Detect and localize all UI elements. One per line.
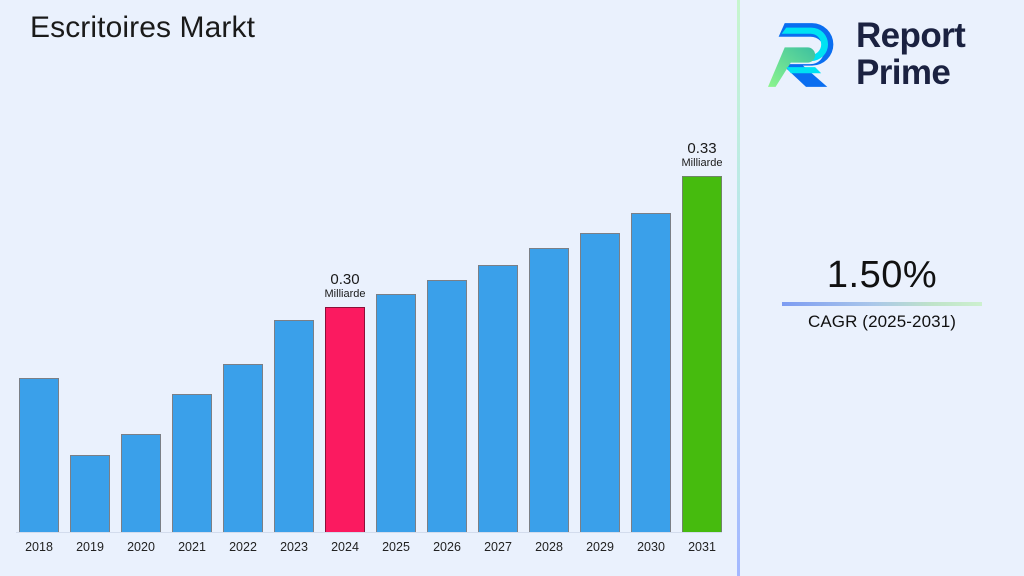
bar-value-2031: 0.33 (682, 141, 723, 157)
bar-rect-2030[interactable] (631, 213, 671, 532)
x-tick-2024: 2024 (325, 540, 365, 554)
brand-wordmark: Report Prime (856, 18, 965, 92)
cagr-caption: CAGR (2025-2031) (740, 312, 1024, 332)
bar-2026[interactable] (427, 280, 467, 532)
bar-2020[interactable] (121, 434, 161, 532)
bar-value-label-2031: 0.33Milliarde (682, 141, 723, 170)
bar-rect-2019[interactable] (70, 455, 110, 532)
bar-rect-2031[interactable] (682, 176, 722, 532)
chart-page: Escritoires Markt 0.30Milliarde0.33Milli… (0, 0, 1024, 576)
brand-logo: Report Prime (768, 12, 1000, 98)
bar-unit-2024: Milliarde (325, 289, 366, 301)
x-tick-2027: 2027 (478, 540, 518, 554)
side-panel: Report Prime 1.50% CAGR (2025-2031) (740, 0, 1024, 576)
bar-rect-2022[interactable] (223, 364, 263, 532)
x-tick-2022: 2022 (223, 540, 263, 554)
bar-unit-2031: Milliarde (682, 158, 723, 170)
x-tick-2029: 2029 (580, 540, 620, 554)
x-tick-2030: 2030 (631, 540, 671, 554)
bar-2023[interactable] (274, 320, 314, 532)
bar-rect-2021[interactable] (172, 394, 212, 532)
brand-name-line2: Prime (856, 55, 965, 92)
bar-rect-2027[interactable] (478, 265, 518, 532)
bar-value-label-2024: 0.30Milliarde (325, 272, 366, 301)
cagr-block: 1.50% CAGR (2025-2031) (740, 255, 1024, 332)
brand-name-line1: Report (856, 18, 965, 55)
bar-rect-2025[interactable] (376, 294, 416, 532)
bar-rect-2020[interactable] (121, 434, 161, 532)
x-tick-2031: 2031 (682, 540, 722, 554)
x-tick-2025: 2025 (376, 540, 416, 554)
bar-rect-2029[interactable] (580, 233, 620, 532)
bar-2022[interactable] (223, 364, 263, 532)
bar-2018[interactable] (19, 378, 59, 532)
bar-rect-2028[interactable] (529, 248, 569, 532)
bar-2031[interactable]: 0.33Milliarde (682, 176, 722, 532)
x-tick-2018: 2018 (19, 540, 59, 554)
bar-rect-2024[interactable] (325, 307, 365, 532)
x-tick-2021: 2021 (172, 540, 212, 554)
x-tick-2028: 2028 (529, 540, 569, 554)
bar-2030[interactable] (631, 213, 671, 532)
bar-2027[interactable] (478, 265, 518, 532)
x-tick-2026: 2026 (427, 540, 467, 554)
bar-rect-2026[interactable] (427, 280, 467, 532)
bar-2029[interactable] (580, 233, 620, 532)
bar-2019[interactable] (70, 455, 110, 532)
bar-2028[interactable] (529, 248, 569, 532)
bar-2021[interactable] (172, 394, 212, 532)
report-prime-logo-icon (768, 17, 844, 93)
bar-value-2024: 0.30 (325, 272, 366, 288)
x-tick-2019: 2019 (70, 540, 110, 554)
bar-rect-2023[interactable] (274, 320, 314, 532)
bar-2024[interactable]: 0.30Milliarde (325, 307, 365, 532)
bar-rect-2018[interactable] (19, 378, 59, 532)
cagr-divider-rule (782, 302, 982, 306)
bar-chart-plot-area: 0.30Milliarde0.33Milliarde 2018201920202… (0, 0, 737, 576)
x-axis-baseline (16, 532, 722, 533)
cagr-value: 1.50% (740, 255, 1024, 297)
x-tick-2020: 2020 (121, 540, 161, 554)
bar-2025[interactable] (376, 294, 416, 532)
x-tick-2023: 2023 (274, 540, 314, 554)
